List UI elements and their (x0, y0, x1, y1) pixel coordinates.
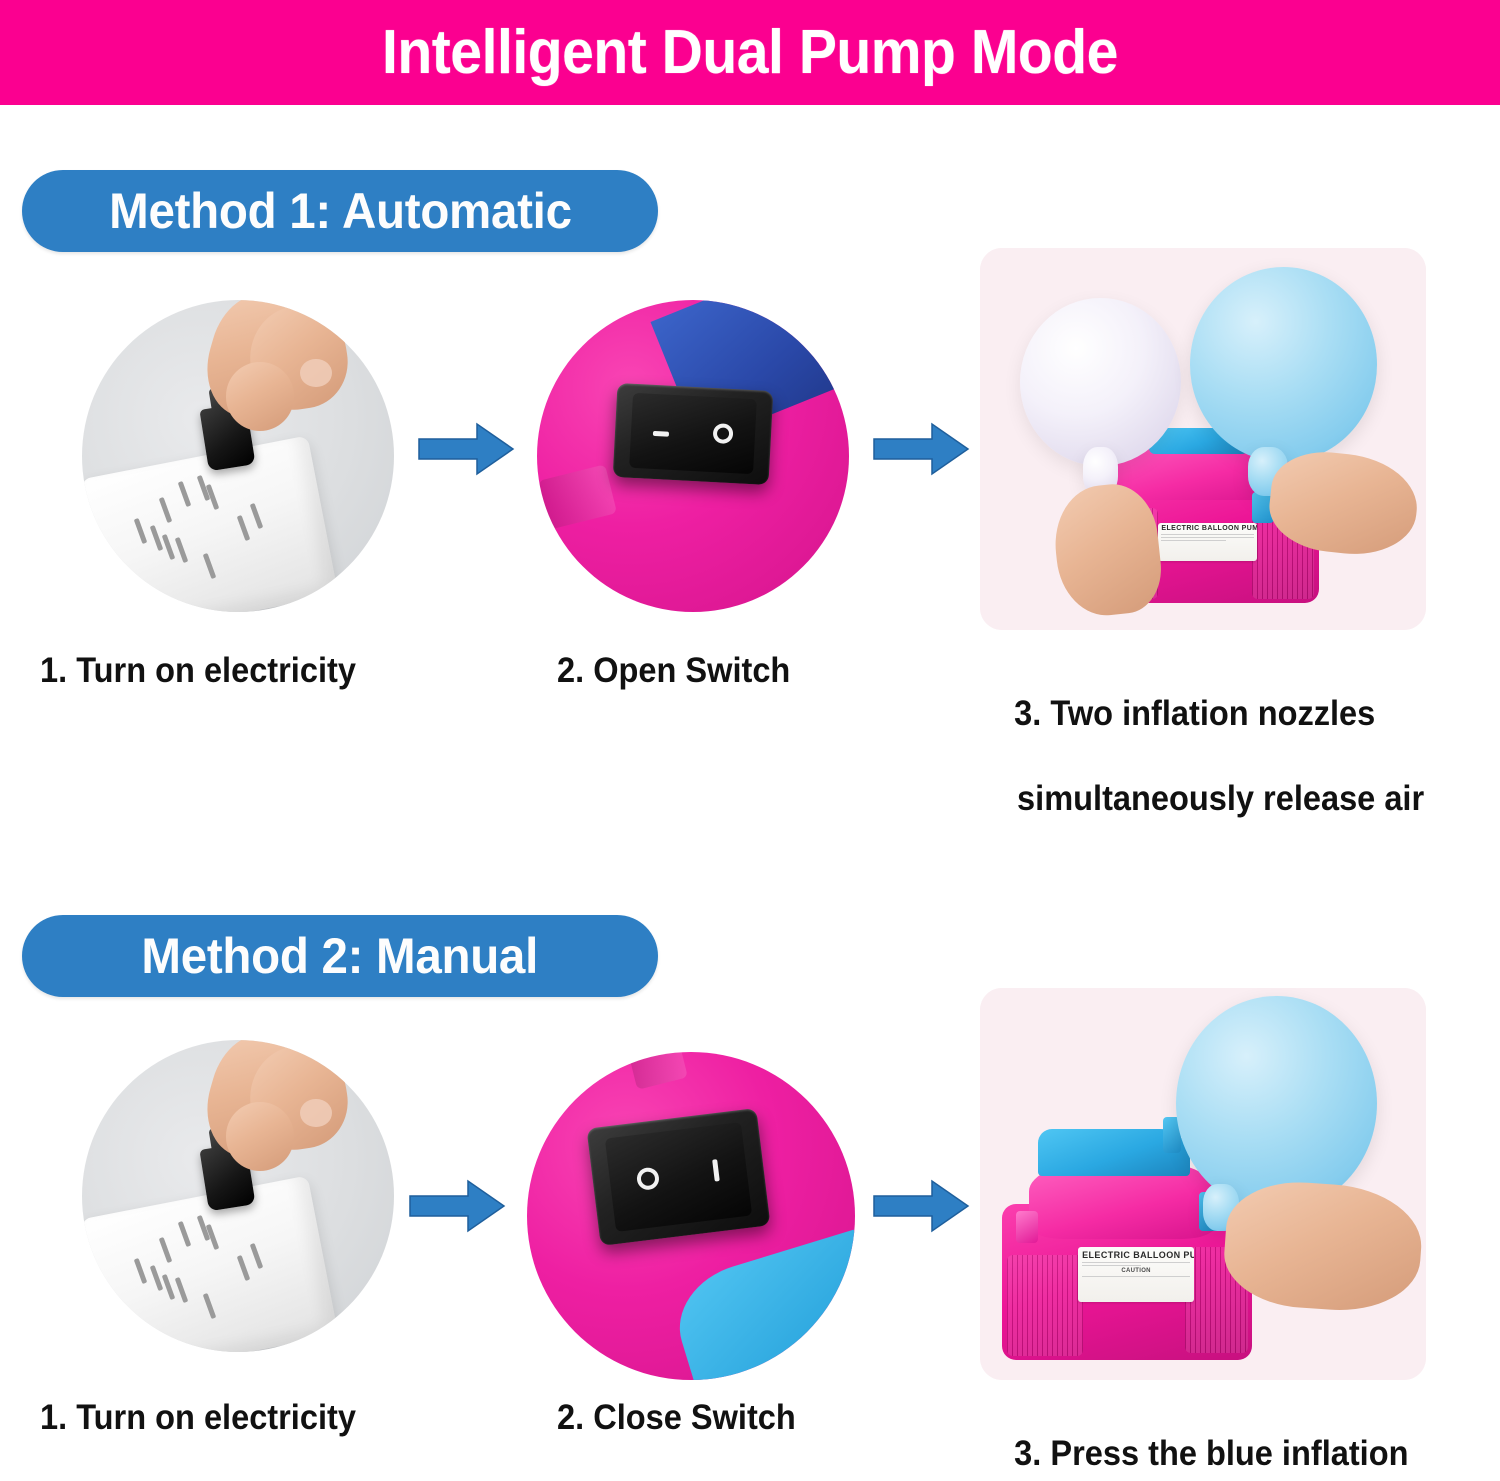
header-banner: Intelligent Dual Pump Mode (0, 0, 1500, 105)
right-arrow-icon (872, 1175, 972, 1237)
rocker-switch-bezel[interactable] (586, 1108, 770, 1246)
method-1-step-1-caption: 1. Turn on electricity (40, 650, 356, 693)
pump-label-title: ELECTRIC BALLOON PUMP (1161, 525, 1253, 532)
switch-mark-right (713, 423, 734, 448)
caption-line-2: simultaneously release air (978, 778, 1424, 821)
photo-pump-switch-on (537, 300, 849, 612)
photo-hand-plugging-power-strip (82, 300, 394, 612)
rocker-switch-face[interactable] (629, 394, 758, 475)
caption-line-1: 3. Press the blue inflation (1014, 1434, 1408, 1473)
pump-pink-nozzle (1016, 1211, 1038, 1242)
arrow-step1-to-step2 (417, 418, 517, 480)
balloon-white (1020, 298, 1181, 466)
rocker-switch-face[interactable] (604, 1121, 751, 1231)
arrow-step2-to-step3 (872, 1175, 972, 1237)
right-arrow-icon (872, 418, 972, 480)
hand-grip (226, 362, 295, 431)
pump-product-label: ELECTRIC BALLOON PUMP CAUTION (1078, 1247, 1194, 1302)
caption-line-1: 3. Two inflation nozzles (1014, 694, 1375, 733)
switch-mark-left (652, 424, 669, 441)
switch-mark-left (636, 1166, 661, 1194)
method-1-label: Method 1: Automatic (109, 182, 572, 240)
photo-pump-switch-off (527, 1052, 855, 1380)
infographic-page: Intelligent Dual Pump Mode Method 1: Aut… (0, 0, 1500, 1481)
arrow-step1-to-step2 (408, 1175, 508, 1237)
method-1-step-2-caption: 2. Open Switch (557, 650, 790, 693)
fingernail (300, 359, 331, 387)
method-2-step-2-image (527, 1052, 855, 1380)
photo-hand-plugging-power-strip (82, 1040, 394, 1352)
arrow-step2-to-step3 (872, 418, 972, 480)
right-arrow-icon (408, 1175, 508, 1237)
method-2-step-2-caption: 2. Close Switch (557, 1397, 796, 1440)
balloon-light-blue (1190, 267, 1377, 462)
photo-manual-inflation: ELECTRIC BALLOON PUMP CAUTION (980, 988, 1426, 1380)
method-2-label-pill: Method 2: Manual (22, 915, 658, 997)
method-2-step-3-caption: 3. Press the blue inflation nozzle to ma… (978, 1390, 1411, 1481)
rocker-switch-bezel[interactable] (613, 383, 774, 485)
method-1-step-3-image: ELECTRIC BALLOON PUMP (980, 248, 1426, 630)
pump-label-caution: CAUTION (1082, 1268, 1190, 1274)
method-2-step-3-image: ELECTRIC BALLOON PUMP CAUTION (980, 988, 1426, 1380)
method-1-step-2-image (537, 300, 849, 612)
method-1-step-3-caption: 3. Two inflation nozzles simultaneously … (978, 650, 1424, 906)
switch-mark-right (712, 1159, 720, 1185)
fingernail (300, 1099, 331, 1127)
page-title: Intelligent Dual Pump Mode (382, 17, 1118, 88)
pump-label-title: ELECTRIC BALLOON PUMP (1082, 1250, 1190, 1260)
right-arrow-icon (417, 418, 517, 480)
photo-two-balloons-on-pump: ELECTRIC BALLOON PUMP (980, 248, 1426, 630)
hand-grip (226, 1102, 295, 1171)
pump-ribs-left (1007, 1255, 1083, 1357)
method-2-step-1-caption: 1. Turn on electricity (40, 1397, 356, 1440)
method-2-step-1-image (82, 1040, 394, 1352)
method-1-label-pill: Method 1: Automatic (22, 170, 658, 252)
method-1-step-1-image (82, 300, 394, 612)
pump-product-label: ELECTRIC BALLOON PUMP (1158, 523, 1256, 561)
method-2-label: Method 2: Manual (142, 927, 539, 985)
balloon-light-blue (1176, 996, 1377, 1212)
